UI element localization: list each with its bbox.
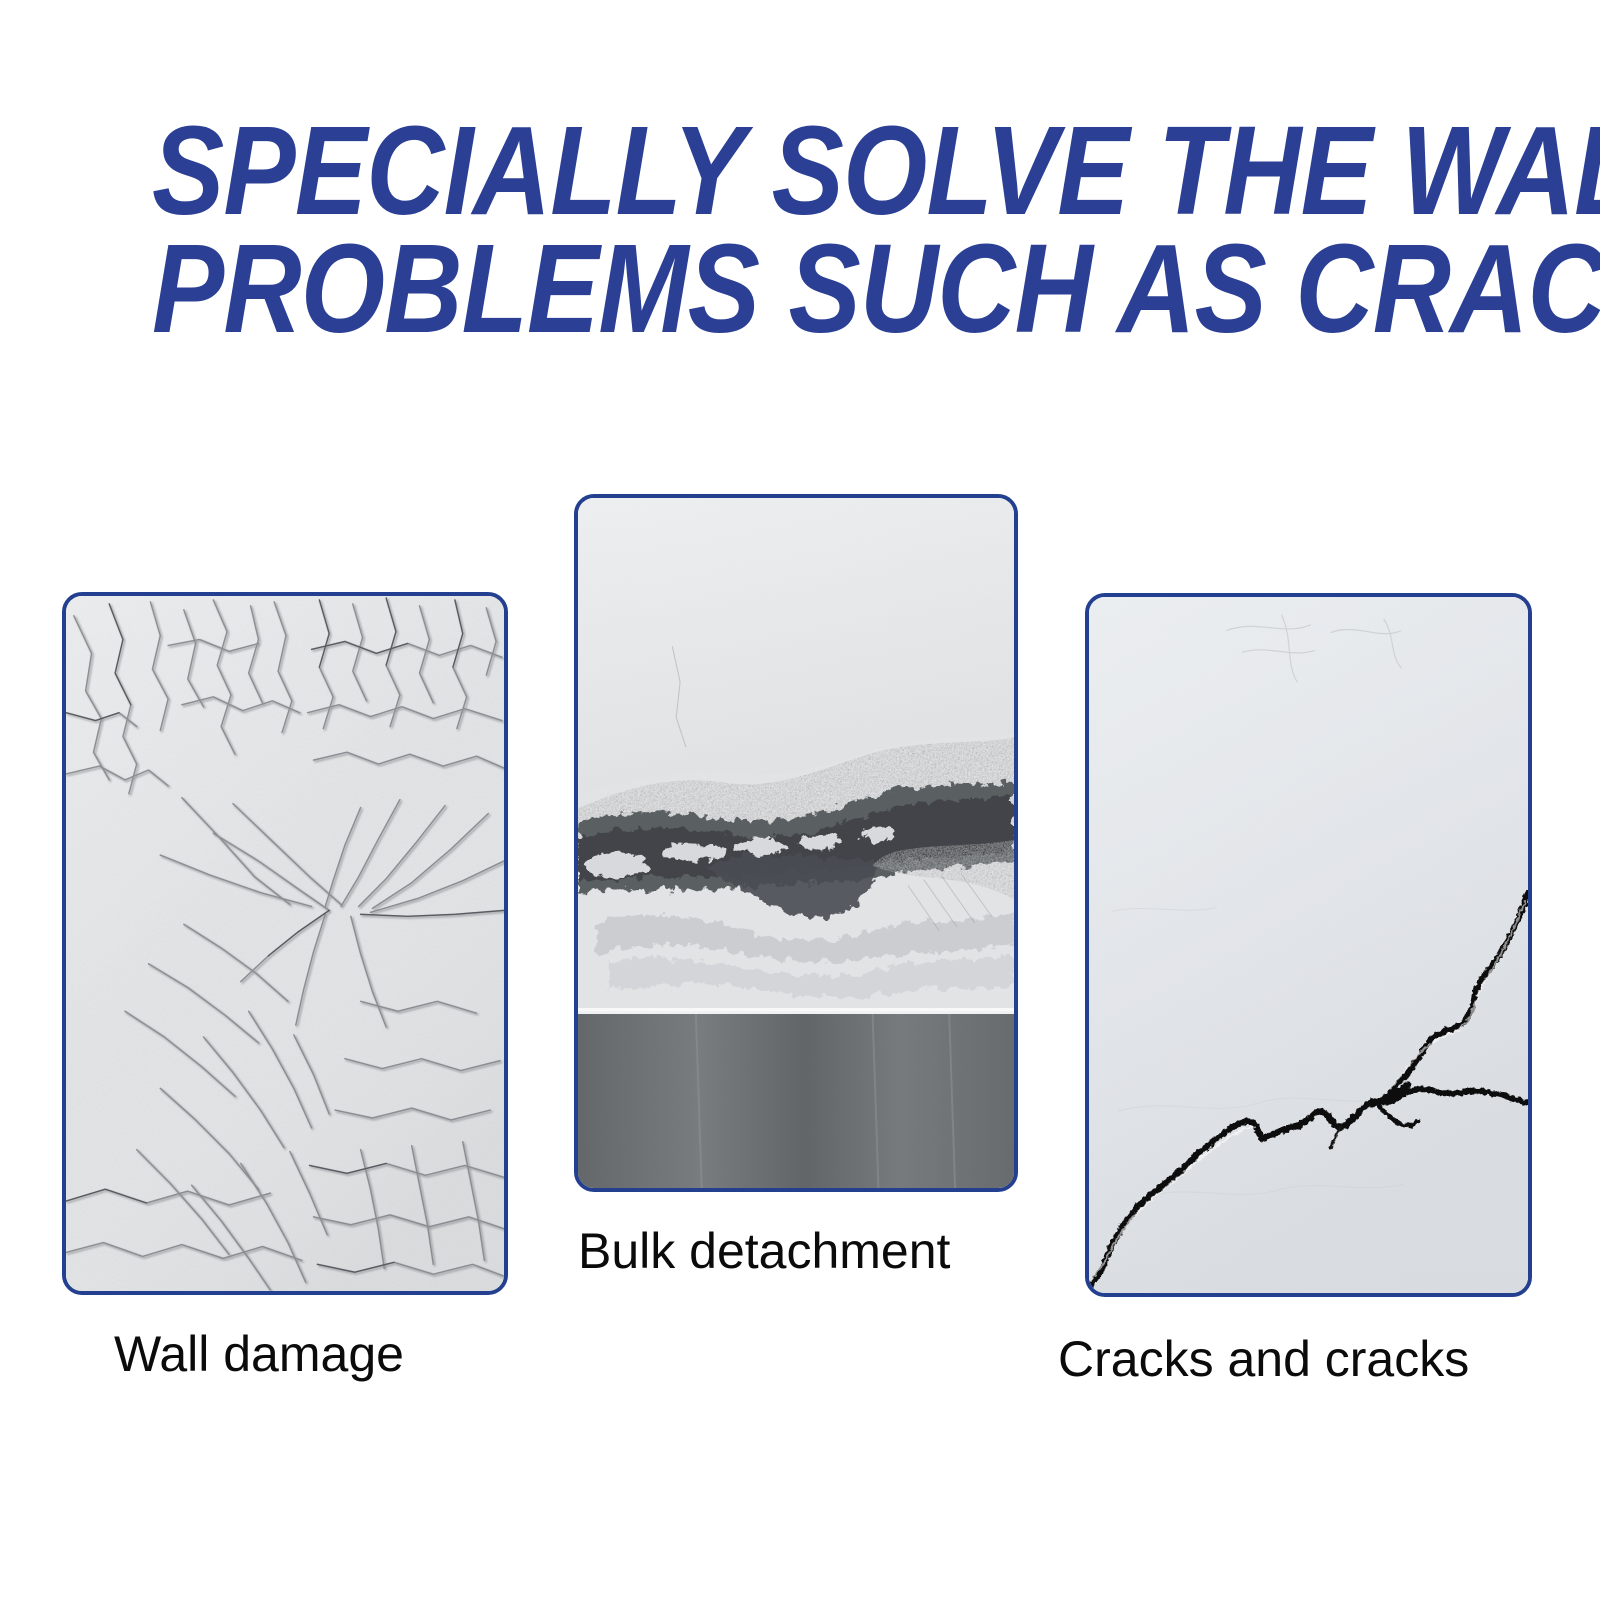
image-panel-bulk-detachment bbox=[574, 494, 1018, 1192]
cracks-photo bbox=[1089, 597, 1528, 1293]
image-panel-wall-damage bbox=[62, 592, 508, 1295]
headline-line-2: PROBLEMS SUCH AS CRACKS bbox=[152, 230, 1356, 348]
caption-bulk-detachment: Bulk detachment bbox=[578, 1222, 950, 1280]
bulk-detachment-photo bbox=[578, 498, 1014, 1188]
caption-cracks-and-cracks: Cracks and cracks bbox=[1058, 1330, 1469, 1388]
caption-wall-damage: Wall damage bbox=[114, 1325, 404, 1383]
headline-line-1: SPECIALLY SOLVE THE WALL bbox=[152, 112, 1356, 230]
image-panel-cracks bbox=[1085, 593, 1532, 1297]
wall-damage-photo bbox=[66, 596, 504, 1291]
page-title: SPECIALLY SOLVE THE WALL PROBLEMS SUCH A… bbox=[152, 112, 1552, 348]
poster-canvas: SPECIALLY SOLVE THE WALL PROBLEMS SUCH A… bbox=[0, 0, 1600, 1600]
